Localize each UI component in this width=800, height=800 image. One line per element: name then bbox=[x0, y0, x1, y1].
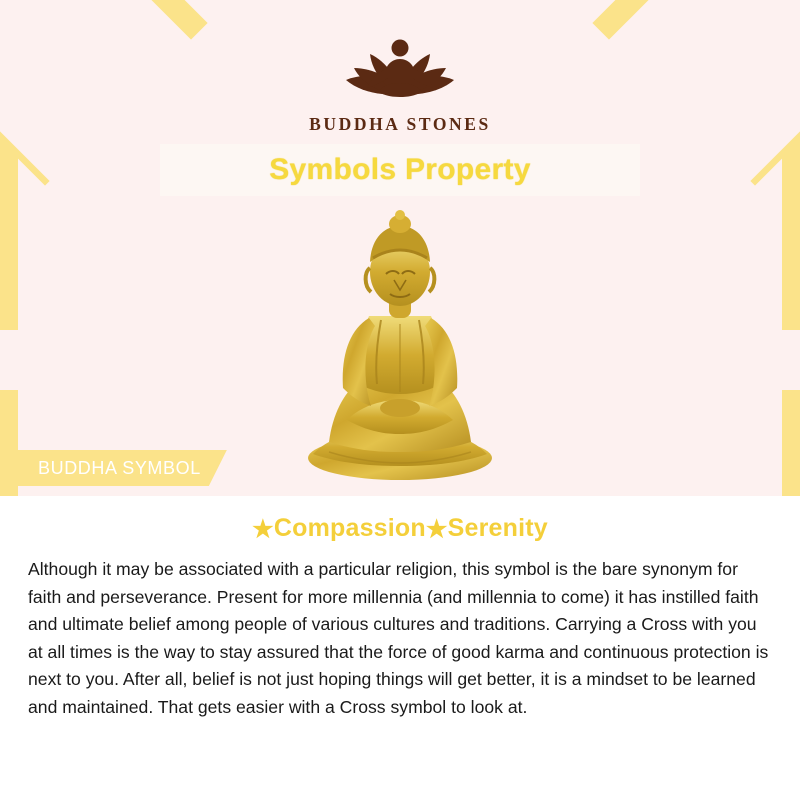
content-headline: ★Compassion★Serenity bbox=[0, 514, 800, 544]
page-title: Symbols Property bbox=[269, 153, 531, 187]
content-panel: ★Compassion★Serenity Although it may be … bbox=[0, 496, 800, 800]
lotus-meditation-figure-icon bbox=[320, 24, 480, 110]
headline-word-compassion: Compassion bbox=[274, 514, 426, 542]
title-banner: Symbols Property bbox=[160, 144, 640, 196]
brand-logo: BUDDHA STONES bbox=[0, 24, 800, 135]
poster-page: BUDDHA STONES Symbols Property bbox=[0, 0, 800, 800]
body-paragraph: Although it may be associated with a par… bbox=[28, 556, 772, 721]
headline-word-serenity: Serenity bbox=[448, 514, 548, 542]
symbol-tag-label: BUDDHA SYMBOL bbox=[38, 458, 201, 479]
star-icon-right: ★ bbox=[426, 516, 448, 543]
brand-name: BUDDHA STONES bbox=[309, 114, 491, 135]
symbol-tag: BUDDHA SYMBOL bbox=[0, 450, 227, 486]
star-icon-left: ★ bbox=[252, 516, 274, 543]
seated-buddha-statue-illustration bbox=[285, 196, 515, 486]
